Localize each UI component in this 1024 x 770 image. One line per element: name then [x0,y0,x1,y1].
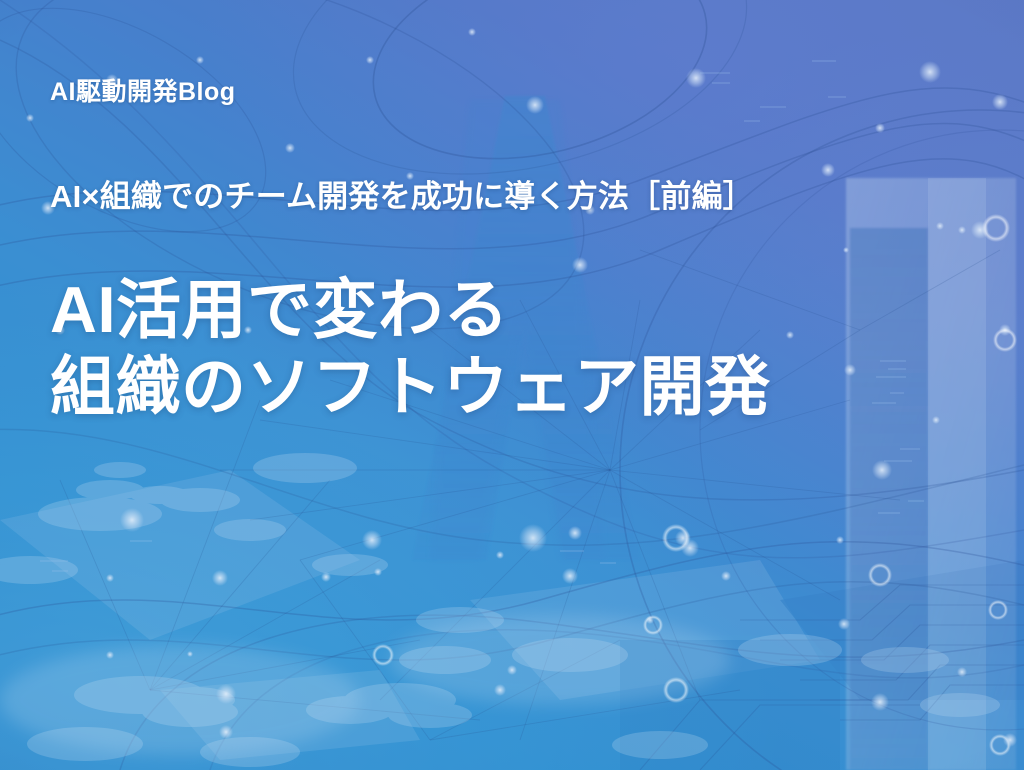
blog-hero-banner: AI駆動開発Blog AI×組織でのチーム開発を成功に導く方法［前編］ AI活用… [0,0,1024,770]
article-title-line-1: AI活用で変わる [50,272,771,349]
blog-name-label: AI駆動開発Blog [50,78,236,107]
article-series-subtitle: AI×組織でのチーム開発を成功に導く方法［前編］ [50,178,754,215]
article-title-line-2: 組織のソフトウェア開発 [50,349,771,426]
hero-text-block: AI駆動開発Blog AI×組織でのチーム開発を成功に導く方法［前編］ AI活用… [50,0,950,770]
article-title: AI活用で変わる 組織のソフトウェア開発 [50,272,771,425]
